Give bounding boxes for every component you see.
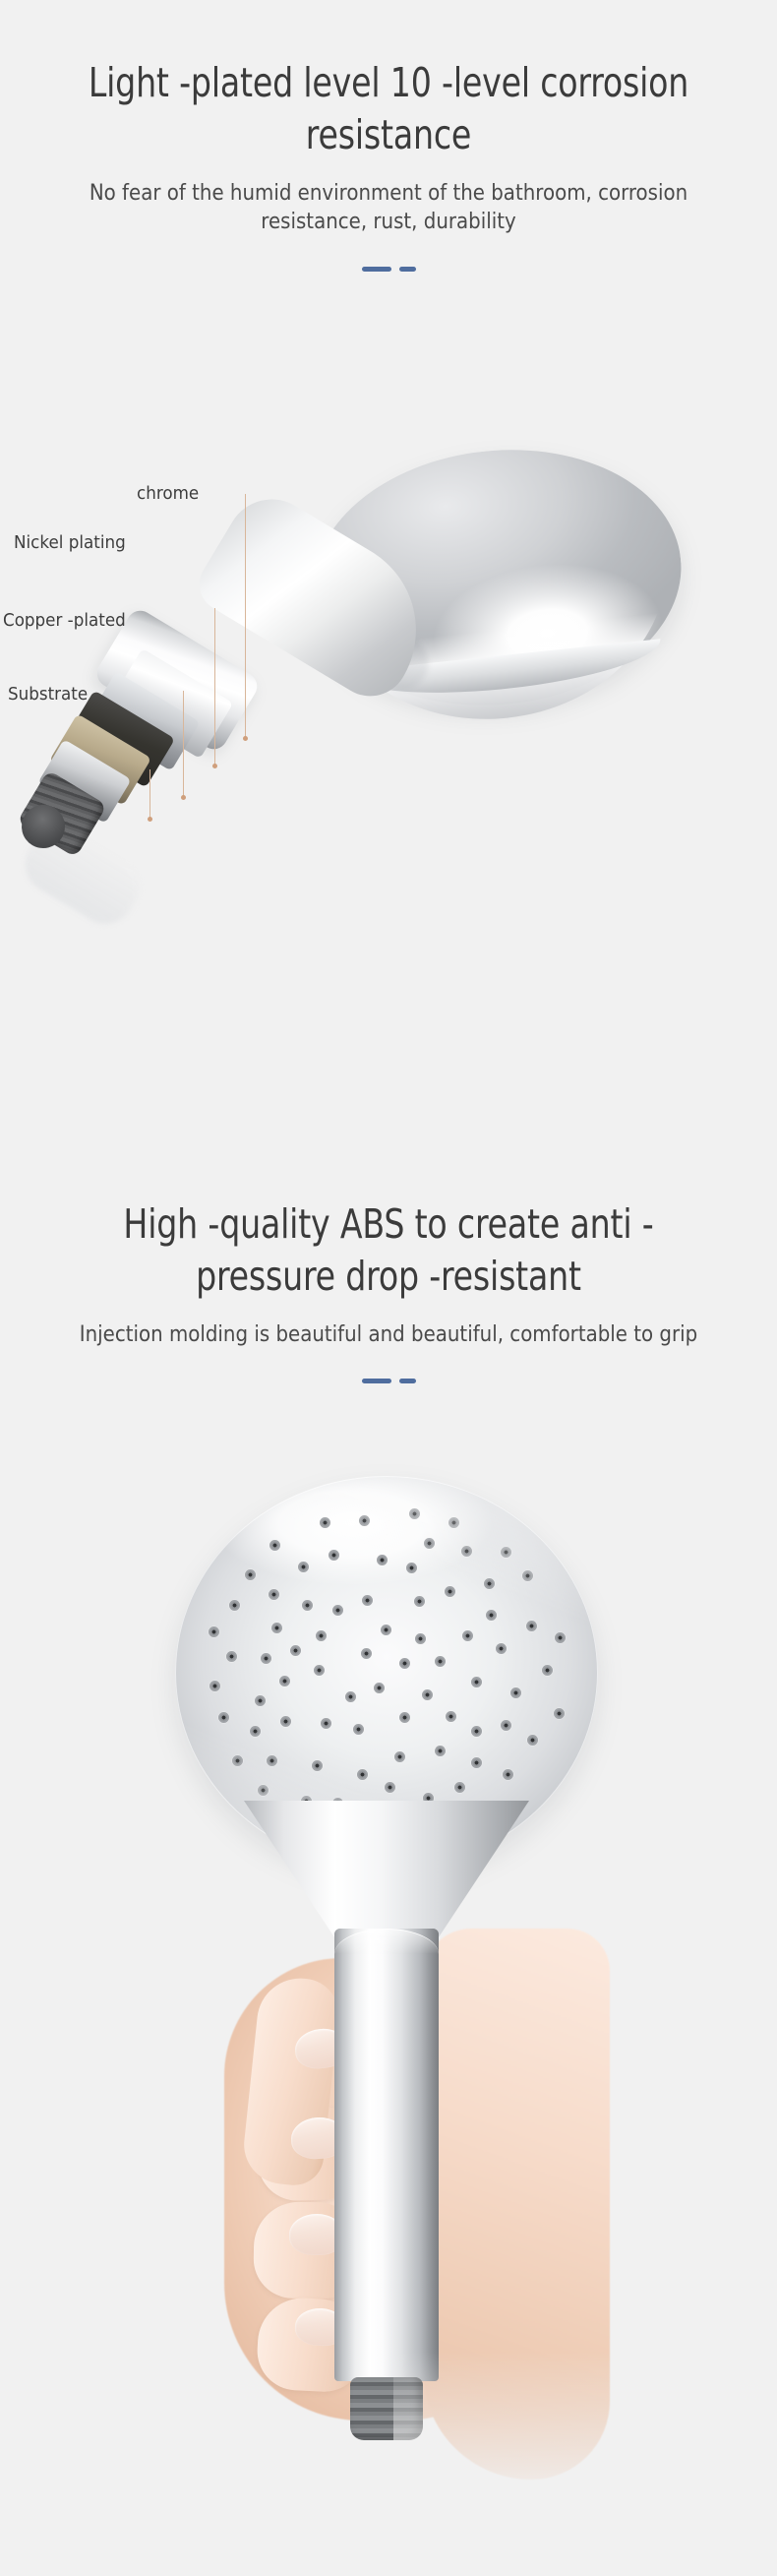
head-to-handle-funnel [244, 1801, 529, 1938]
callout-line-substrate [149, 769, 150, 821]
section-corrosion-headline: Light -plated level 10 -level corrosion … [39, 57, 739, 162]
section-abs-divider [0, 1379, 777, 1383]
section-abs-material-header: High -quality ABS to create anti -pressu… [0, 1198, 777, 1383]
product-detail-page: Light -plated level 10 -level corrosion … [0, 0, 777, 2576]
callout-label-copper-plated: Copper -plated [3, 610, 126, 631]
callout-line-nickel [214, 608, 215, 767]
section-corrosion-divider [0, 267, 777, 272]
divider-dash-long [362, 1379, 391, 1383]
divider-dash-short [399, 1379, 416, 1383]
hand-holding-shower-head-illustration [0, 1466, 777, 2576]
callout-label-substrate: Substrate [8, 684, 88, 705]
section-abs-subline: Injection molding is beautiful and beaut… [39, 1320, 739, 1349]
shower-handle-gloss [334, 1929, 439, 2381]
wrist-fade-out [393, 2352, 639, 2548]
divider-dash-long [362, 267, 391, 272]
section-corrosion-resistance-header: Light -plated level 10 -level corrosion … [0, 57, 777, 272]
section-abs-headline: High -quality ABS to create anti -pressu… [39, 1198, 739, 1304]
divider-dash-short [399, 267, 416, 272]
callout-label-nickel-plating: Nickel plating [14, 532, 126, 553]
section-corrosion-subline: No fear of the humid environment of the … [39, 179, 739, 237]
callout-line-chrome [245, 494, 246, 740]
callout-dot-nickel [212, 764, 217, 768]
callout-dot-chrome [243, 736, 248, 741]
callout-line-copper [183, 691, 184, 799]
callout-label-chrome: chrome [137, 483, 199, 504]
callout-dot-substrate [148, 817, 152, 822]
callout-dot-copper [181, 795, 186, 800]
cutaway-shower-head-illustration: chrome Nickel plating Copper -plated Sub… [0, 423, 777, 1171]
